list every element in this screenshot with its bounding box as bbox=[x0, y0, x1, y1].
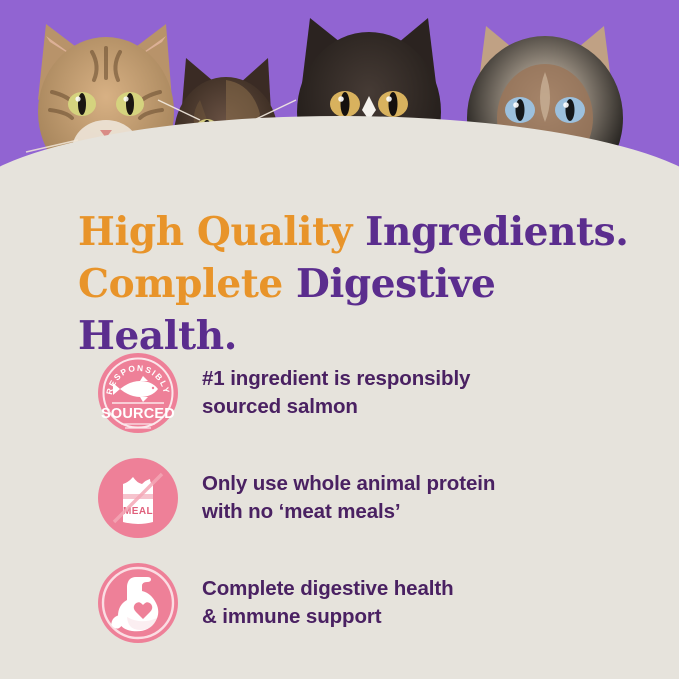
badge-main-text: SOURCED bbox=[101, 406, 175, 422]
no-meat-meal-bag-badge-icon: MEAL bbox=[96, 456, 180, 540]
headline-line2-orange: Complete bbox=[78, 261, 296, 307]
list-item: MEAL Only use whole animal protein with … bbox=[96, 445, 636, 550]
list-item: RESPONSIBLY SOURCED #1 ingredient is res… bbox=[96, 340, 636, 445]
feature-label: Complete digestive health & immune suppo… bbox=[202, 575, 454, 630]
feature-list: RESPONSIBLY SOURCED #1 ingredient is res… bbox=[96, 340, 636, 655]
cat-banner bbox=[0, 0, 679, 205]
headline-line1-purple: Ingredients. bbox=[365, 209, 628, 255]
digestive-health-stomach-heart-badge-icon bbox=[96, 561, 180, 645]
responsibly-sourced-fish-badge-icon: RESPONSIBLY SOURCED bbox=[96, 351, 180, 435]
feature-label: Only use whole animal protein with no ‘m… bbox=[202, 470, 495, 525]
headline-line1-orange: High Quality bbox=[78, 209, 365, 255]
feature-label: #1 ingredient is responsibly sourced sal… bbox=[202, 365, 470, 420]
list-item: Complete digestive health & immune suppo… bbox=[96, 550, 636, 655]
